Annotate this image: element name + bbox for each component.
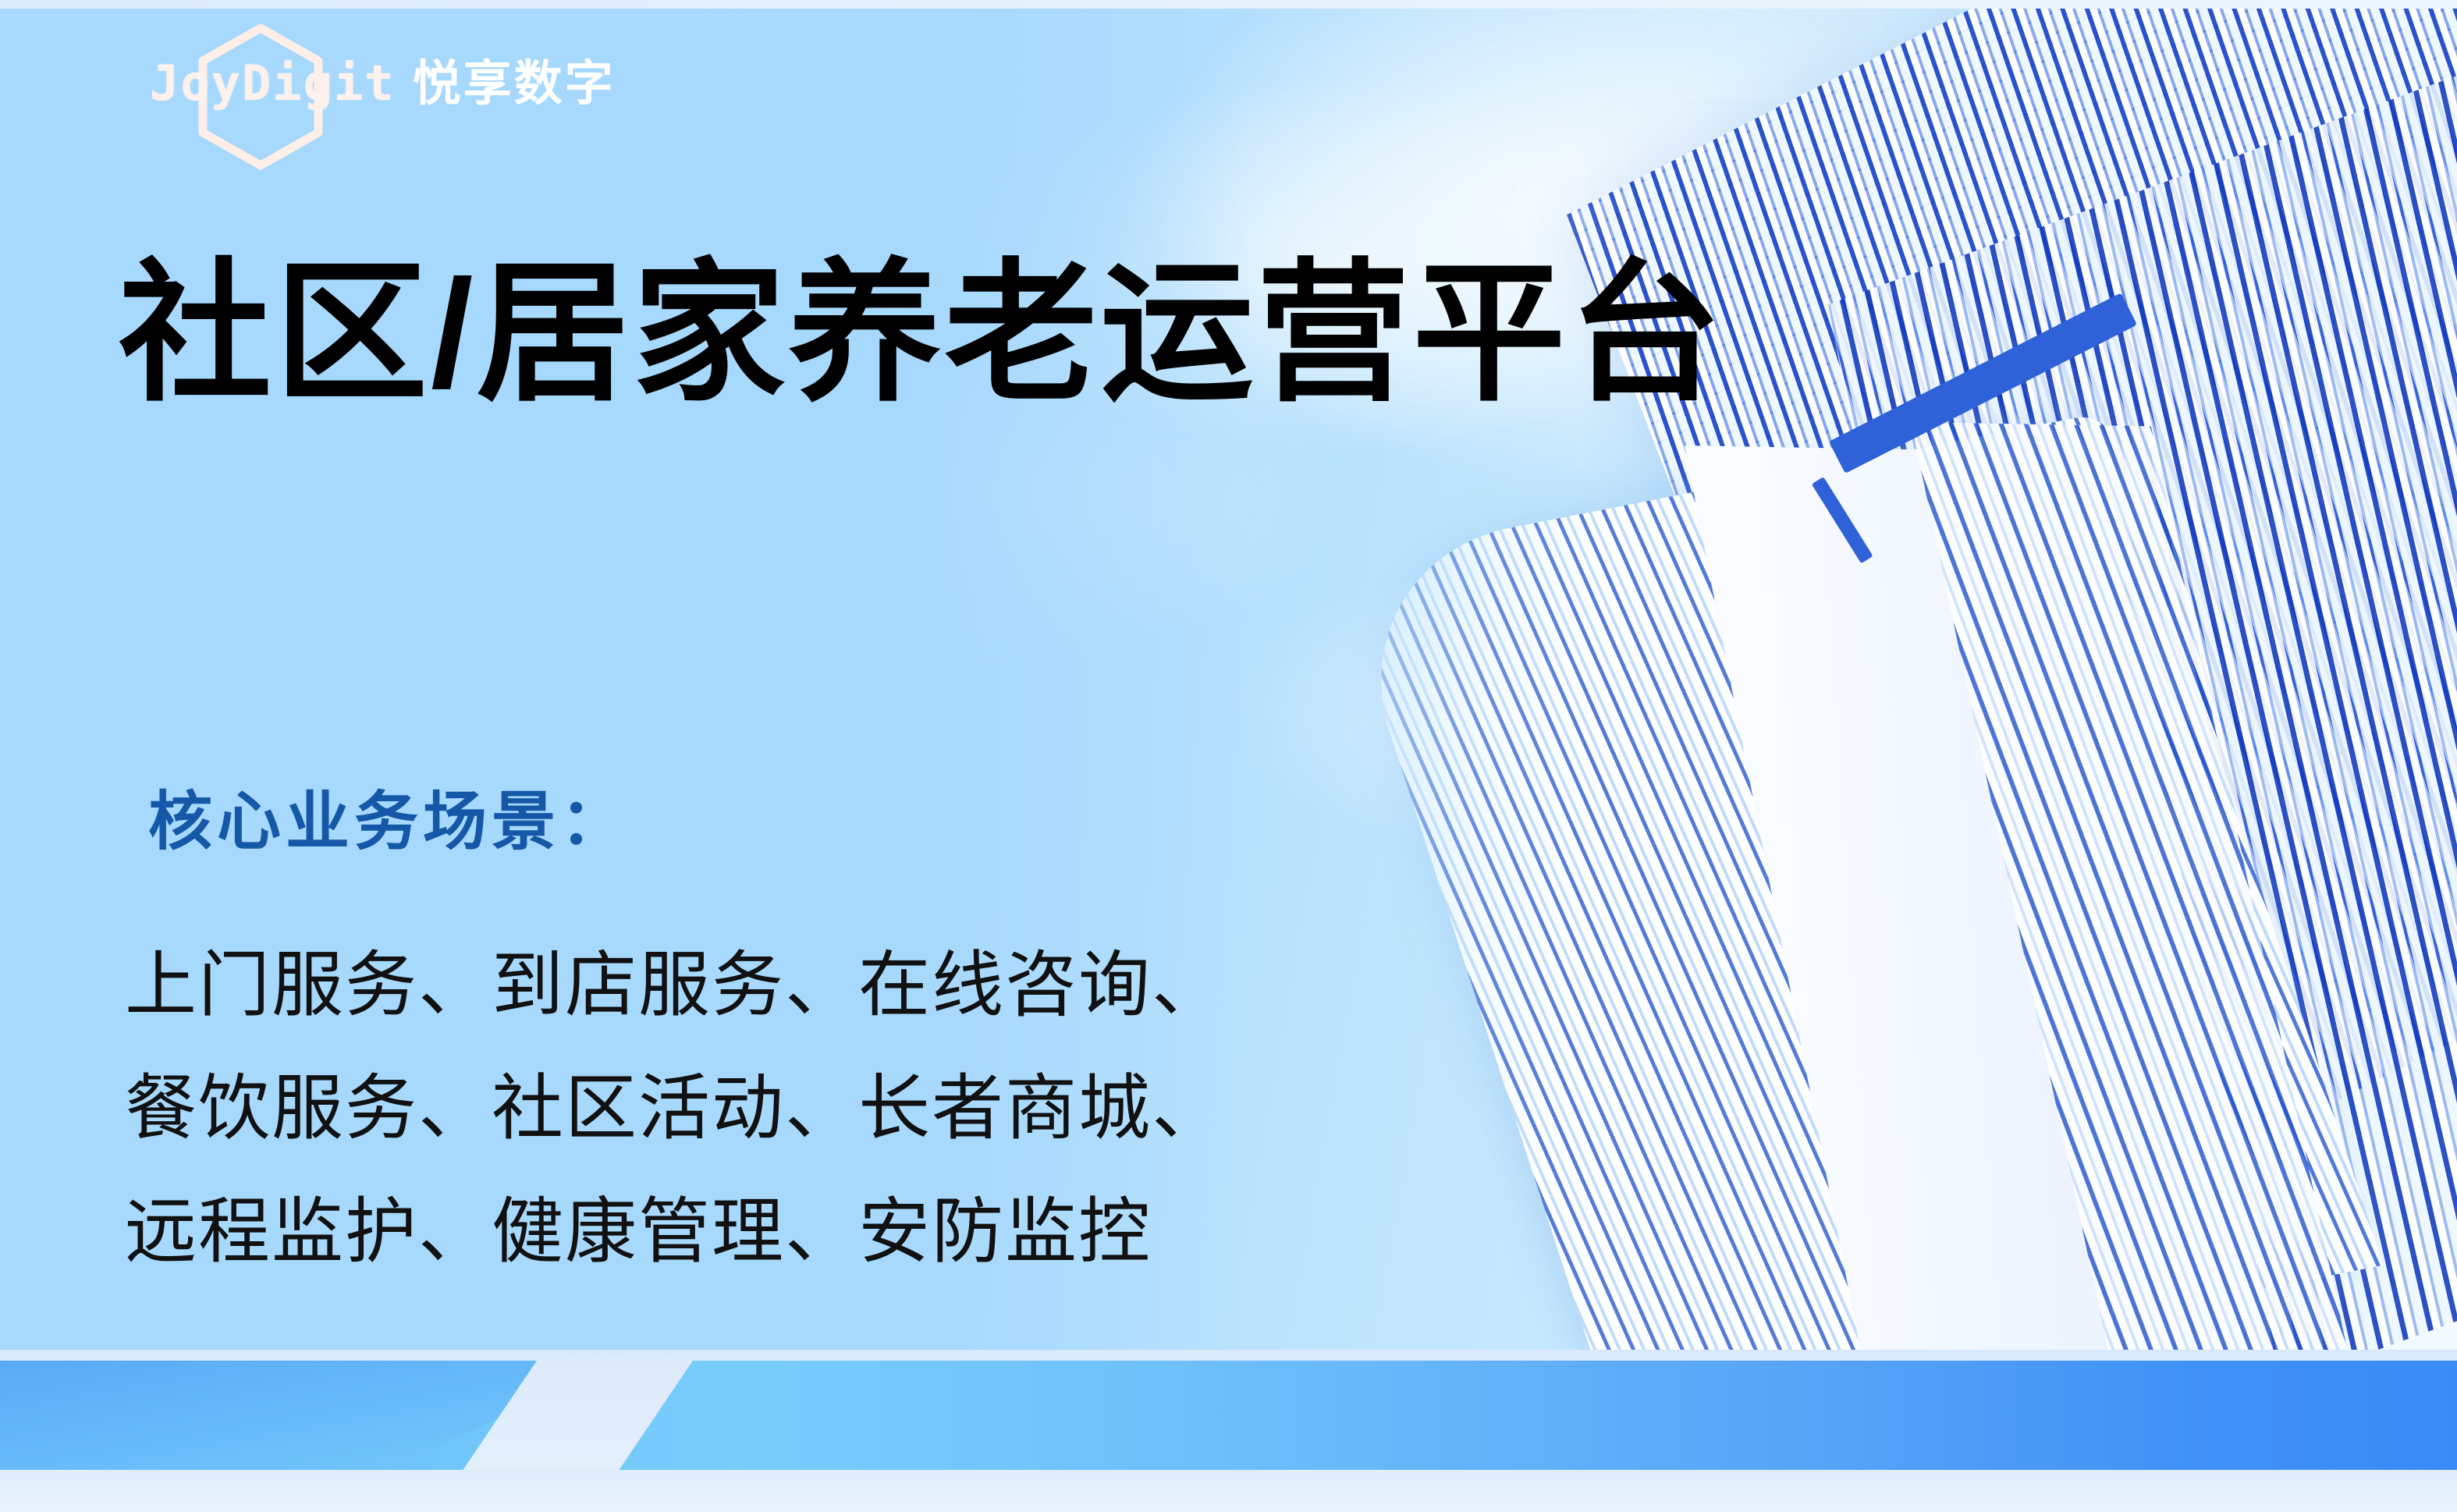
section-heading: 核心业务场景： xyxy=(148,769,629,862)
scenario-line: 远程监护、健康管理、安防监控 xyxy=(125,1170,1225,1294)
brand-logo[interactable]: JoyDigit 悦享数字 xyxy=(136,20,698,137)
band-base-strip xyxy=(0,1470,2457,1512)
scenario-list: 上门服务、到店服务、在线咨询、 餐饮服务、社区活动、长者商城、 远程监护、健康管… xyxy=(125,924,1225,1294)
scenario-line: 上门服务、到店服务、在线咨询、 xyxy=(125,924,1225,1047)
building-photo xyxy=(1318,9,2457,1382)
bottom-decorative-band xyxy=(0,1350,2457,1512)
slide-root: JoyDigit 悦享数字 社区/居家养老运营平台 核心业务场景： 上门服务、到… xyxy=(0,0,2457,1512)
scenario-line: 餐饮服务、社区活动、长者商城、 xyxy=(125,1047,1225,1170)
page-title: 社区/居家养老运营平台 xyxy=(119,251,1724,417)
brand-logo-en: JoyDigit xyxy=(150,55,396,112)
brand-logo-text: JoyDigit 悦享数字 xyxy=(136,44,616,114)
top-edge-strip xyxy=(0,0,2457,9)
building-photo-fade xyxy=(1318,9,2457,1382)
brand-logo-cn: 悦享数字 xyxy=(413,44,616,114)
